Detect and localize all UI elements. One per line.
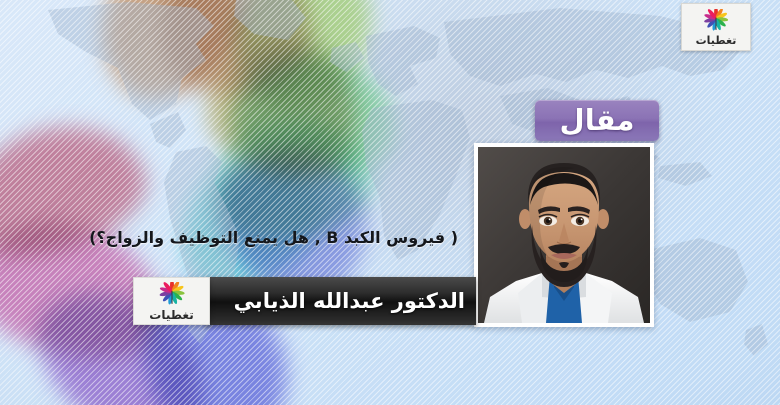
article-headline: ( فيروس الكبد B , هل يمنع التوظيف والزوا… (89, 228, 458, 247)
corner-brand-logo[interactable]: تغطيات (681, 3, 751, 51)
author-name-bar: الدكتور عبدالله الذيابي (205, 277, 476, 325)
article-banner: تغطيات مقال (0, 0, 780, 405)
doctor-portrait-image (478, 147, 650, 323)
pinwheel-flower-icon (154, 282, 190, 308)
world-map-graphic (0, 0, 780, 405)
author-name: الدكتور عبدالله الذيابي (234, 291, 465, 312)
article-badge[interactable]: مقال (535, 100, 659, 141)
namebar-brand-logo[interactable]: تغطيات (133, 277, 210, 325)
doctor-portrait (474, 143, 654, 327)
namebar-logo-wordmark: تغطيات (149, 309, 193, 321)
pinwheel-flower-icon (699, 9, 733, 34)
article-badge-label: مقال (560, 106, 635, 135)
corner-logo-wordmark: تغطيات (696, 35, 737, 46)
